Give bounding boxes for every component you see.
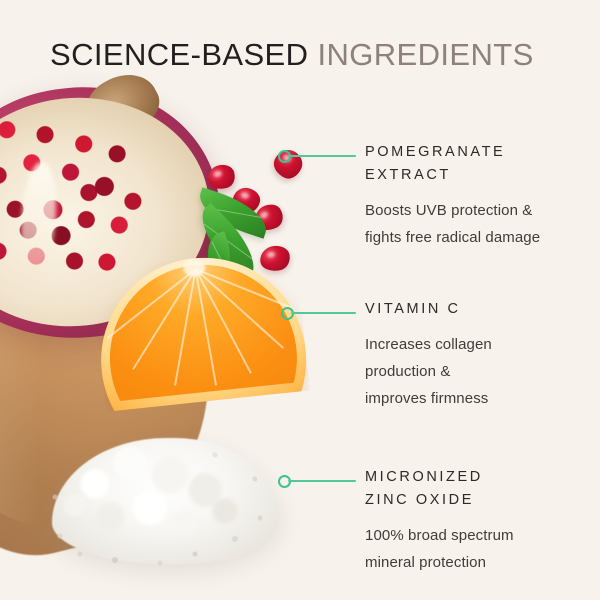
title-secondary: INGREDIENTS (317, 37, 533, 72)
powder-specks (40, 428, 290, 578)
leader-line-pomegranate (278, 150, 358, 162)
title-primary: SCIENCE-BASED (50, 37, 308, 72)
callout-vitamin-c: VITAMIN C Increases collagen production … (365, 298, 580, 412)
callout-heading: VITAMIN C (365, 298, 580, 321)
callout-body: Increases collagen production & improves… (365, 331, 580, 412)
leader-rule (288, 480, 356, 482)
callout-body: Boosts UVB protection & fights free radi… (365, 197, 580, 251)
leader-rule (288, 155, 356, 157)
ingredients-infographic: SCIENCE-BASED INGREDIENTS POMEGRANATE EX… (0, 0, 600, 600)
orange-slice-image (91, 248, 310, 414)
leader-line-vitamin-c (281, 307, 361, 319)
callout-pomegranate-extract: POMEGRANATE EXTRACT Boosts UVB protectio… (365, 141, 580, 251)
callout-micronized-zinc-oxide: MICRONIZED ZINC OXIDE 100% broad spectru… (365, 466, 580, 576)
callout-body: 100% broad spectrum mineral protection (365, 522, 580, 576)
callout-heading: MICRONIZED ZINC OXIDE (365, 466, 580, 512)
page-title: SCIENCE-BASED INGREDIENTS (50, 36, 534, 74)
callout-heading: POMEGRANATE EXTRACT (365, 141, 580, 187)
leader-line-zinc-oxide (278, 475, 358, 487)
zinc-powder-image (40, 408, 290, 583)
leader-rule (291, 312, 356, 314)
